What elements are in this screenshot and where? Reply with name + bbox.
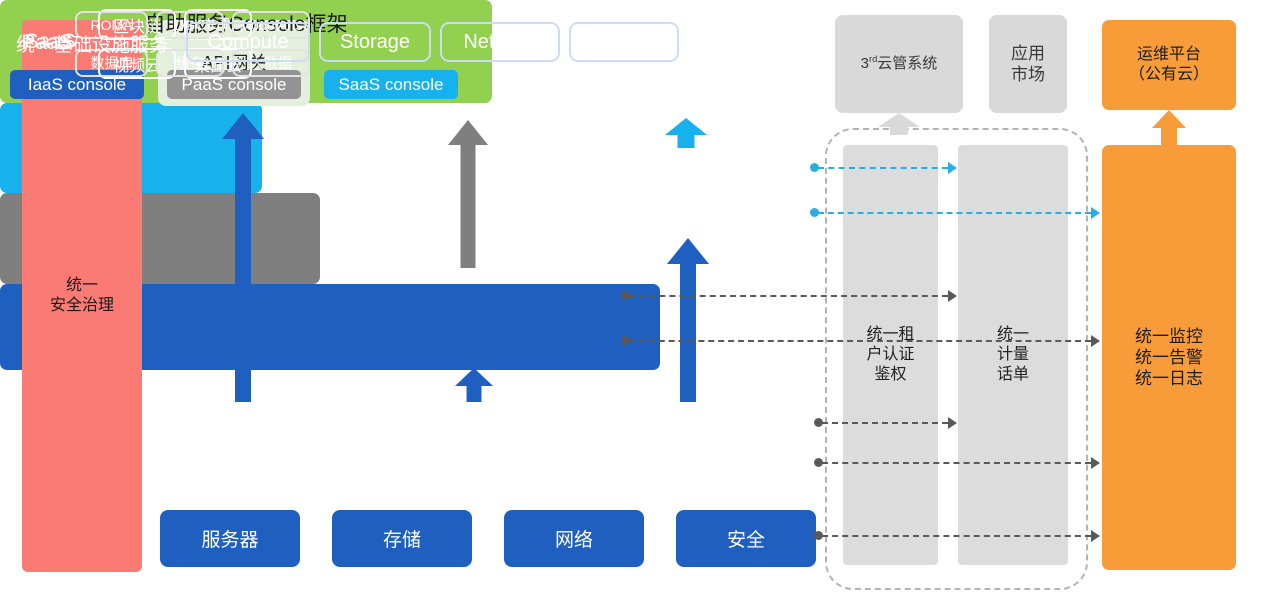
- infra-service-storage[interactable]: Storage: [319, 22, 431, 62]
- arrow-infra-to-saas: [667, 238, 709, 402]
- connector-saas-to-auth: [818, 167, 948, 169]
- security-governance-panel: 统一 安全治理: [22, 20, 142, 572]
- ops-platform-header-box: 运维平台 （公有云）: [1102, 20, 1236, 110]
- arrow-saas-to-saas-console: [665, 118, 707, 148]
- connector-arrowhead-infra-ops: [1091, 457, 1100, 469]
- ops-platform-header-label: 运维平台 （公有云）: [1129, 45, 1209, 85]
- hardware-storage-box[interactable]: 存储: [332, 510, 472, 567]
- unified-metering-billing-label: 统一 计量 话单: [997, 325, 1029, 385]
- arrow-paas-to-console: [448, 120, 488, 268]
- arrow-to-ops-platform: [1152, 110, 1186, 146]
- unified-tenant-auth-column: 统一租 户认证 鉴权: [843, 145, 938, 565]
- security-governance-label: 统一 安全治理: [50, 276, 114, 316]
- arrow-to-third-party-cloud: [878, 113, 920, 135]
- connector-arrowhead-saas-ops: [1091, 207, 1100, 219]
- connector-hardware-to-ops: [822, 535, 1091, 537]
- ops-platform-panel-label: 统一监控 统一告警 统一日志: [1135, 326, 1203, 390]
- arrow-infra-to-paas: [455, 368, 493, 402]
- hardware-server-box[interactable]: 服务器: [160, 510, 300, 567]
- unified-tenant-auth-label: 统一租 户认证 鉴权: [866, 325, 914, 385]
- app-market-box: 应用 市场: [989, 15, 1067, 113]
- connector-infra-to-ops: [822, 462, 1091, 464]
- unified-infrastructure-label: 统一基础设施服务: [16, 30, 168, 57]
- app-market-label: 应用 市场: [1011, 43, 1045, 86]
- connector-paas-to-ops: [629, 340, 1091, 342]
- third-party-cloud-mgmt-box: 3rd云管系统: [835, 15, 963, 113]
- saas-console-badge[interactable]: SaaS console: [324, 70, 458, 99]
- connector-arrowhead-paas-ops: [1091, 335, 1100, 347]
- connector-infra-to-auth: [822, 422, 948, 424]
- ops-platform-panel: 统一监控 统一告警 统一日志: [1102, 145, 1236, 570]
- connector-saas-to-ops: [818, 212, 1091, 214]
- architecture-diagram: 统一 安全治理 API网关 自助服务Console框架 IaaS console…: [0, 0, 1265, 605]
- connector-arrowhead-paas-auth: [948, 290, 957, 302]
- hardware-security-box[interactable]: 安全: [676, 510, 816, 567]
- infra-service-network[interactable]: Network: [440, 22, 560, 62]
- third-party-cloud-mgmt-label: 3rd云管系统: [861, 54, 938, 74]
- hardware-network-box[interactable]: 网络: [504, 510, 644, 567]
- unified-metering-billing-column: 统一 计量 话单: [958, 145, 1068, 565]
- connector-arrowhead-hardware-ops: [1091, 530, 1100, 542]
- arrow-infra-to-api-gateway: [222, 113, 264, 402]
- infra-service-compute[interactable]: Compute: [186, 22, 310, 62]
- connector-arrowhead-infra-auth: [948, 417, 957, 429]
- connector-paas-to-auth: [629, 295, 948, 297]
- connector-arrowhead-saas-auth: [948, 162, 957, 174]
- infra-service-cce[interactable]: CCE: [569, 22, 679, 62]
